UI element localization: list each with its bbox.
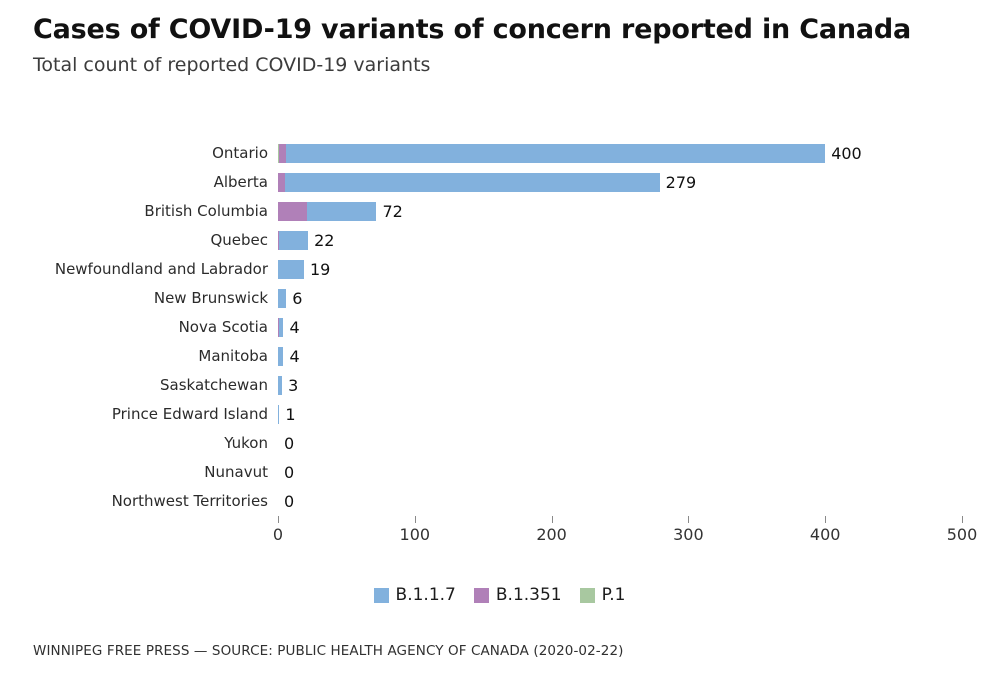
legend-label: B.1.351	[496, 585, 562, 605]
bar-value-label: 4	[289, 342, 299, 371]
bar-value-label: 4	[289, 313, 299, 342]
axis-tick-label: 0	[273, 525, 283, 544]
bar-row-label: Newfoundland and Labrador	[0, 255, 268, 284]
bar-value-label: 72	[382, 197, 402, 226]
legend-item[interactable]: P.1	[580, 585, 626, 605]
bar-row: Yukon0	[0, 429, 999, 458]
bar-row: Saskatchewan3	[0, 371, 999, 400]
bar-track: 0	[278, 487, 978, 516]
bar-row: Manitoba4	[0, 342, 999, 371]
bar-row-label: New Brunswick	[0, 284, 268, 313]
chart-plot-area: Ontario400Alberta279British Columbia72Qu…	[0, 139, 999, 514]
stacked-bar[interactable]	[278, 376, 282, 395]
bar-value-label: 6	[292, 284, 302, 313]
axis-tick-label: 500	[947, 525, 978, 544]
bar-rows: Ontario400Alberta279British Columbia72Qu…	[0, 139, 999, 516]
bar-value-label: 22	[314, 226, 334, 255]
bar-track: 0	[278, 458, 978, 487]
bar-value-label: 400	[831, 139, 862, 168]
axis-tick	[825, 516, 826, 523]
bar-segment-b-1-1-7	[278, 405, 279, 424]
bar-segment-b-1-1-7	[285, 173, 660, 192]
bar-track: 4	[278, 342, 978, 371]
bar-segment-b-1-1-7	[278, 260, 304, 279]
legend-item[interactable]: B.1.1.7	[374, 585, 456, 605]
chart-subtitle: Total count of reported COVID-19 variant…	[33, 54, 973, 77]
bar-value-label: 1	[285, 400, 295, 429]
bar-segment-b-1-351	[279, 144, 286, 163]
bar-value-label: 279	[666, 168, 697, 197]
stacked-bar[interactable]	[278, 318, 283, 337]
bar-track: 22	[278, 226, 978, 255]
bar-segment-b-1-351	[278, 173, 285, 192]
bar-track: 4	[278, 313, 978, 342]
chart-header: Cases of COVID-19 variants of concern re…	[33, 14, 973, 77]
bar-track: 19	[278, 255, 978, 284]
bar-row-label: Prince Edward Island	[0, 400, 268, 429]
bar-segment-b-1-1-7	[278, 289, 286, 308]
bar-row: Prince Edward Island1	[0, 400, 999, 429]
bar-row: New Brunswick6	[0, 284, 999, 313]
bar-row-label: British Columbia	[0, 197, 268, 226]
axis-tick-label: 100	[400, 525, 431, 544]
bar-segment-b-1-1-7	[279, 231, 308, 250]
bar-track: 3	[278, 371, 978, 400]
chart-legend: B.1.1.7B.1.351P.1	[0, 585, 999, 605]
chart-source-footer: WINNIPEG FREE PRESS — SOURCE: PUBLIC HEA…	[33, 643, 624, 659]
stacked-bar[interactable]	[278, 173, 660, 192]
bar-segment-b-1-1-7	[278, 376, 282, 395]
bar-track: 72	[278, 197, 978, 226]
bar-value-label: 3	[288, 371, 298, 400]
bar-row: Ontario400	[0, 139, 999, 168]
stacked-bar[interactable]	[278, 202, 376, 221]
bar-value-label: 0	[284, 429, 294, 458]
stacked-bar[interactable]	[278, 405, 279, 424]
legend-item[interactable]: B.1.351	[474, 585, 562, 605]
axis-tick-label: 400	[810, 525, 841, 544]
bar-row: Northwest Territories0	[0, 487, 999, 516]
bar-row: Newfoundland and Labrador19	[0, 255, 999, 284]
axis-tick	[278, 516, 279, 523]
bar-value-label: 0	[284, 458, 294, 487]
bar-row: British Columbia72	[0, 197, 999, 226]
bar-row-label: Nova Scotia	[0, 313, 268, 342]
bar-value-label: 19	[310, 255, 330, 284]
bar-row-label: Alberta	[0, 168, 268, 197]
axis-tick-label: 200	[536, 525, 567, 544]
axis-tick	[415, 516, 416, 523]
stacked-bar[interactable]	[278, 144, 825, 163]
stacked-bar[interactable]	[278, 260, 304, 279]
legend-swatch-icon	[474, 588, 489, 603]
bar-row-label: Quebec	[0, 226, 268, 255]
axis-tick	[552, 516, 553, 523]
bar-track: 1	[278, 400, 978, 429]
bar-row: Nova Scotia4	[0, 313, 999, 342]
bar-segment-b-1-1-7	[307, 202, 377, 221]
legend-label: B.1.1.7	[396, 585, 456, 605]
bar-row-label: Ontario	[0, 139, 268, 168]
bar-track: 279	[278, 168, 978, 197]
bar-segment-b-1-351	[278, 202, 307, 221]
stacked-bar[interactable]	[278, 289, 286, 308]
bar-value-label: 0	[284, 487, 294, 516]
bar-row-label: Northwest Territories	[0, 487, 268, 516]
bar-track: 0	[278, 429, 978, 458]
axis-tick	[688, 516, 689, 523]
stacked-bar[interactable]	[278, 231, 308, 250]
bar-track: 400	[278, 139, 978, 168]
x-axis: 0100200300400500	[0, 516, 999, 556]
legend-swatch-icon	[580, 588, 595, 603]
legend-swatch-icon	[374, 588, 389, 603]
legend-label: P.1	[602, 585, 626, 605]
bar-track: 6	[278, 284, 978, 313]
bar-row: Quebec22	[0, 226, 999, 255]
bar-row: Nunavut0	[0, 458, 999, 487]
axis-tick-label: 300	[673, 525, 704, 544]
stacked-bar[interactable]	[278, 347, 283, 366]
axis-tick	[962, 516, 963, 523]
bar-row-label: Yukon	[0, 429, 268, 458]
bar-segment-b-1-1-7	[279, 318, 283, 337]
bar-segment-b-1-1-7	[286, 144, 825, 163]
bar-row-label: Nunavut	[0, 458, 268, 487]
bar-row: Alberta279	[0, 168, 999, 197]
page-title: Cases of COVID-19 variants of concern re…	[33, 14, 973, 45]
bar-segment-b-1-1-7	[278, 347, 283, 366]
bar-row-label: Saskatchewan	[0, 371, 268, 400]
bar-row-label: Manitoba	[0, 342, 268, 371]
